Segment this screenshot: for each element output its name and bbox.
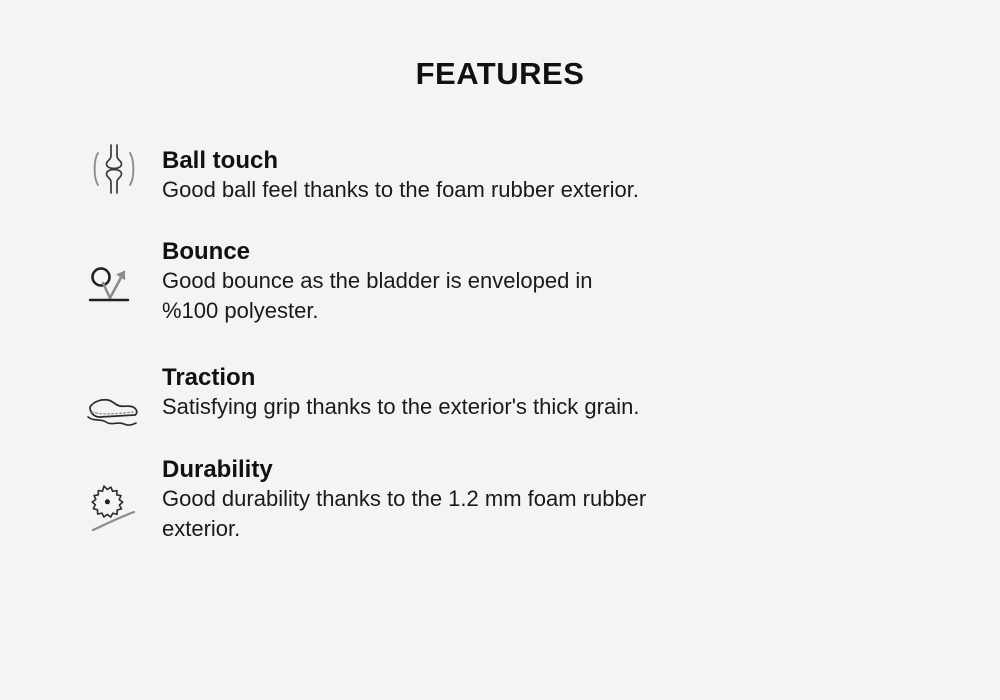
feature-heading: Bounce: [162, 238, 962, 266]
feature-text-traction: Traction Satisfying grip thanks to the e…: [162, 364, 962, 422]
feature-description: Good durability thanks to the 1.2 mm foa…: [162, 484, 962, 544]
shoe-grip-icon: [84, 381, 144, 441]
feature-heading: Traction: [162, 364, 962, 392]
page-title: FEATURES: [0, 56, 1000, 92]
feature-heading: Durability: [162, 456, 962, 484]
bone-joint-impact-icon: [84, 139, 144, 199]
feature-text-bounce: Bounce Good bounce as the bladder is env…: [162, 238, 962, 326]
feature-description: Good bounce as the bladder is enveloped …: [162, 266, 962, 326]
abrasion-burr-icon: [84, 478, 144, 538]
feature-heading: Ball touch: [162, 147, 962, 175]
features-page: FEATURES Ball touch Good ball feel: [0, 0, 1000, 700]
ball-bounce-arrow-icon: [84, 255, 144, 315]
feature-text-durability: Durability Good durability thanks to the…: [162, 456, 962, 544]
feature-text-ball-touch: Ball touch Good ball feel thanks to the …: [162, 147, 962, 205]
feature-description: Good ball feel thanks to the foam rubber…: [162, 175, 962, 205]
feature-description: Satisfying grip thanks to the exterior's…: [162, 392, 962, 422]
features-list: Ball touch Good ball feel thanks to the …: [0, 133, 1000, 603]
